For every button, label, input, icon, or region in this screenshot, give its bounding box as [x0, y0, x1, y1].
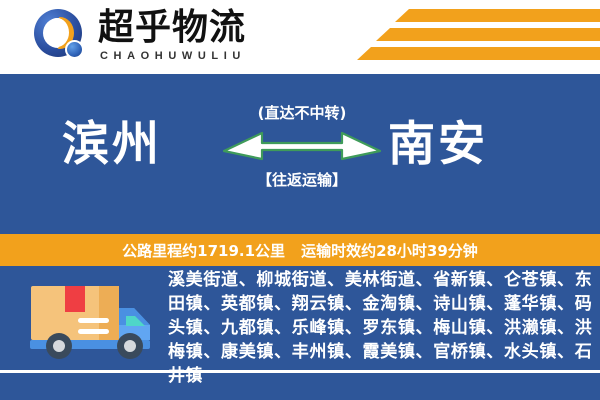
logistics-route-poster: 超乎物流 CHAOHUWULIU 滨州 (直达不中转) 【往返运输】 南安 公路…: [0, 0, 600, 400]
route-section: 滨州 (直达不中转) 【往返运输】 南安: [0, 74, 600, 232]
direct-route-note: (直达不中转): [222, 102, 382, 123]
delivery-truck-svg: [26, 278, 158, 364]
header-bar: 超乎物流 CHAOHUWULIU: [0, 0, 600, 74]
brand-name-pinyin: CHAOHUWULIU: [100, 50, 246, 62]
coverage-section: 溪美街道、柳城街道、美林街道、省新镇、仑苍镇、东田镇、英都镇、翔云镇、金淘镇、诗…: [0, 266, 600, 400]
stripe-2: [376, 28, 600, 41]
delivery-truck-icon: [26, 278, 158, 364]
decorative-stripes: [340, 8, 600, 66]
info-bar: 公路里程约1719.1公里 运输时效约28小时39分钟: [0, 234, 600, 266]
logo-crescent-cutout: [45, 18, 69, 47]
stripe-3: [357, 47, 600, 60]
circle-crescent-logo-icon: [34, 9, 90, 65]
brand-name-chinese: 超乎物流: [98, 7, 246, 49]
origin-city: 滨州: [62, 116, 162, 174]
duration-text: 运输时效约28小时39分钟: [301, 240, 478, 261]
route-middle-block: (直达不中转) 【往返运输】: [222, 102, 382, 190]
destination-city: 南安: [388, 116, 488, 174]
double-arrow-svg: [222, 129, 382, 165]
double-arrow-icon: [222, 129, 382, 165]
distance-text: 公路里程约1719.1公里: [122, 240, 285, 261]
stripe-1: [395, 9, 600, 22]
round-trip-note: 【往返运输】: [222, 169, 382, 190]
logo-dot-shape: [65, 40, 84, 59]
bottom-divider: [0, 370, 600, 373]
